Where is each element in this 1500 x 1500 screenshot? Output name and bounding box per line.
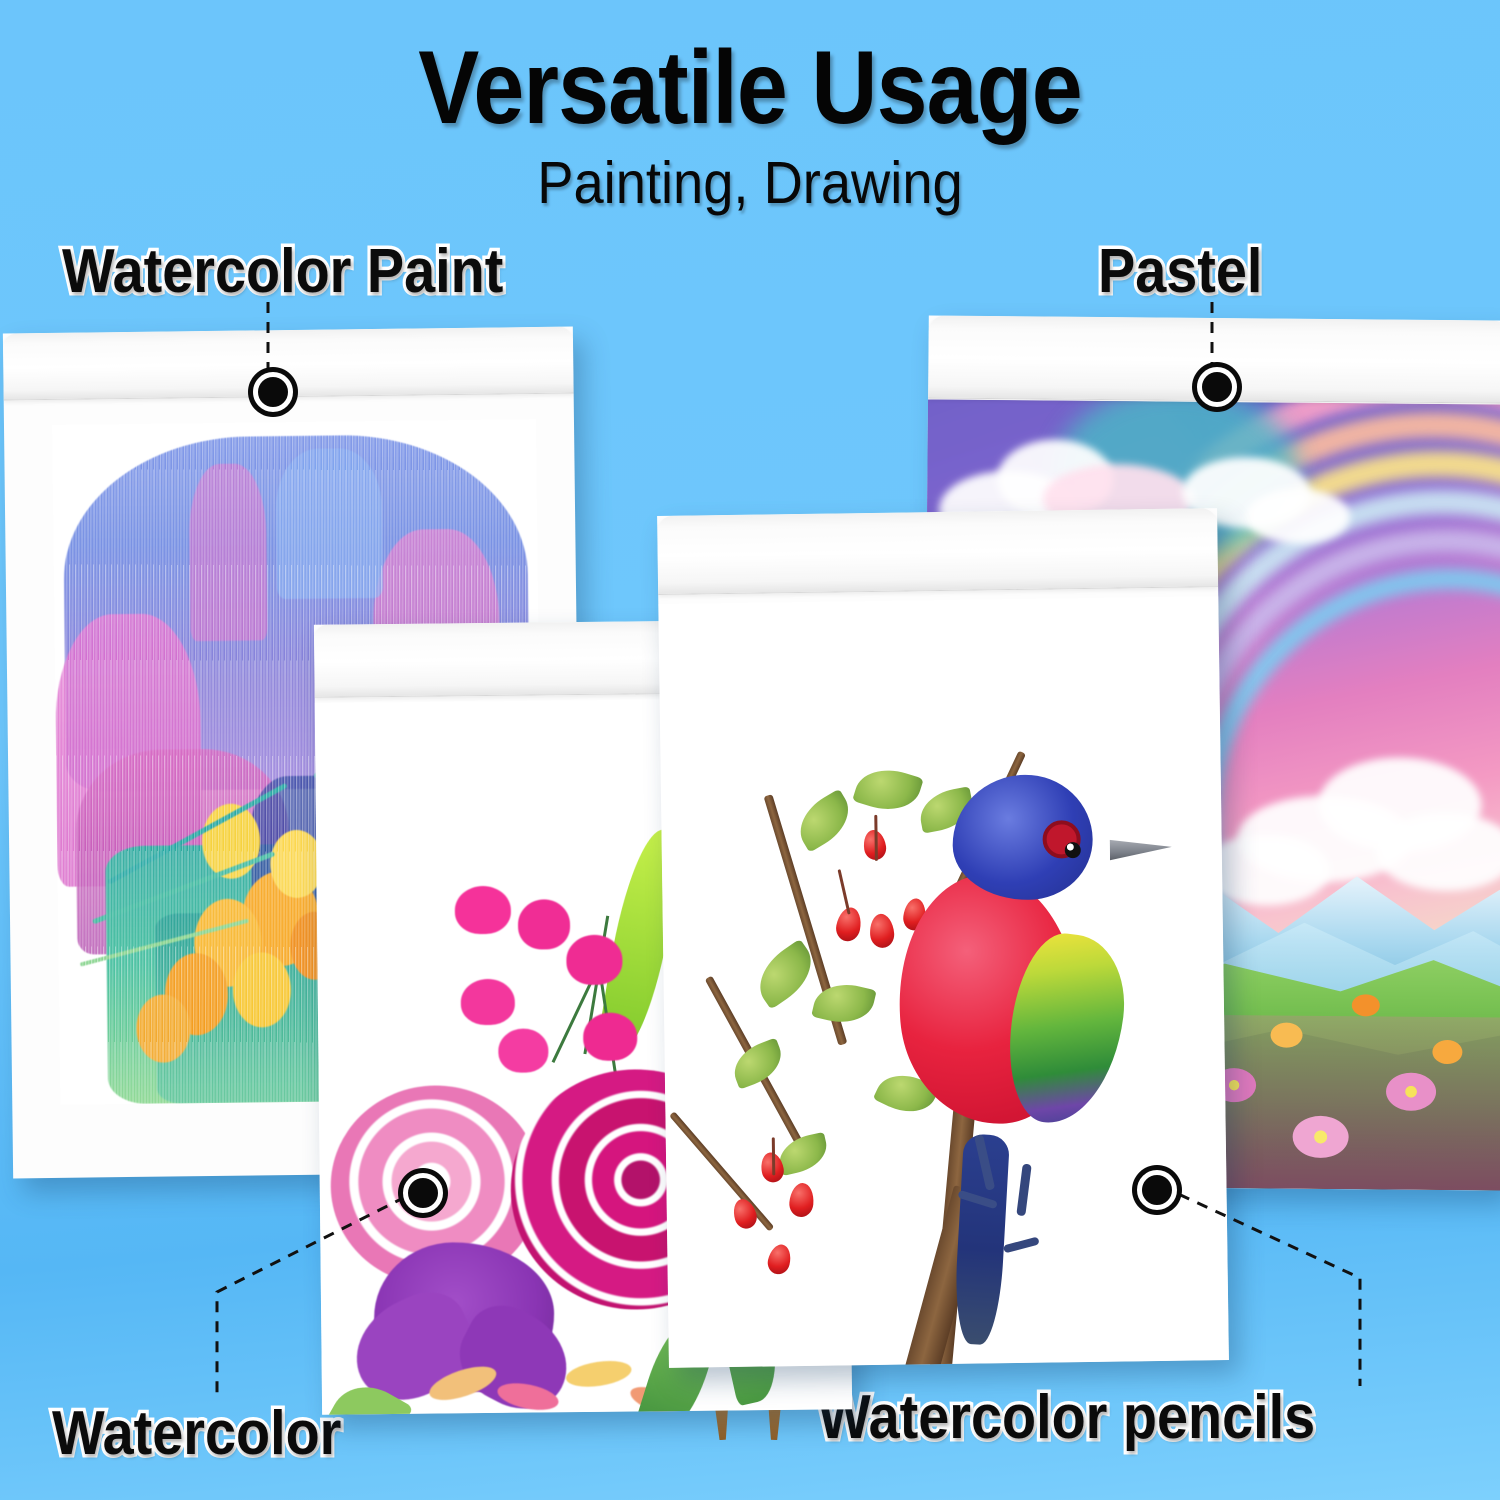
callout-marker-pastel[interactable] bbox=[1197, 367, 1237, 407]
pad-sheet bbox=[657, 508, 1229, 1368]
bird-toe bbox=[1003, 1236, 1040, 1253]
label-pastel: Pastel bbox=[1098, 236, 1262, 307]
bird-leg bbox=[1016, 1164, 1031, 1217]
leader-line-watercolor bbox=[195, 1180, 435, 1405]
artwork-painted-bunting-on-berry-branch bbox=[658, 596, 1229, 1368]
bird-beak bbox=[1110, 834, 1172, 865]
callout-marker-watercolor-paint[interactable] bbox=[253, 372, 293, 412]
pad-watercolor-pencils bbox=[657, 508, 1229, 1368]
pad-binding-flap bbox=[657, 508, 1218, 595]
callout-marker-watercolor[interactable] bbox=[403, 1173, 443, 1213]
product-feature-banner: Versatile Usage Painting, Drawing Waterc… bbox=[0, 0, 1500, 1500]
page-subtitle: Painting, Drawing bbox=[60, 152, 1440, 215]
label-watercolor-paint: Watercolor Paint bbox=[62, 236, 503, 307]
page-title: Versatile Usage bbox=[90, 34, 1410, 142]
callout-marker-watercolor-pencils[interactable] bbox=[1137, 1170, 1177, 1210]
leader-line-watercolor-pencils bbox=[1155, 1178, 1380, 1393]
label-watercolor: Watercolor bbox=[52, 1398, 341, 1469]
